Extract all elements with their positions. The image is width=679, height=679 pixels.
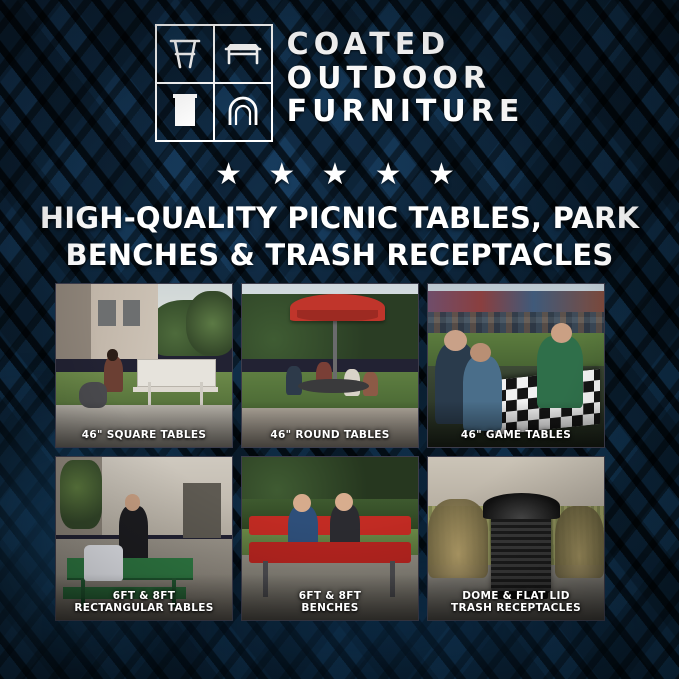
caption-line-1: 6FT & 8FT [60,590,228,602]
page-title: HIGH-QUALITY PICNIC TABLES, PARK BENCHES… [0,200,679,274]
product-caption: 6FT & 8FT RECTANGULAR TABLES [56,590,232,614]
product-grid: 46" SQUARE TABLES [55,283,625,621]
arch-bench-icon [214,83,273,142]
trash-receptacle-icon [155,83,214,142]
product-tile-trash-receptacles[interactable]: DOME & FLAT LID TRASH RECEPTACLES [427,456,605,621]
logo-icon-grid [155,24,273,142]
product-caption: 6FT & 8FT BENCHES [242,590,418,614]
caption-line-1: 6FT & 8FT [246,590,414,602]
product-caption: 46" ROUND TABLES [242,429,418,441]
picnic-table-icon [155,24,214,83]
caption-line-2: BENCHES [246,602,414,614]
caption-line-2: TRASH RECEPTACLES [432,602,600,614]
product-tile-round-tables[interactable]: 46" ROUND TABLES [241,283,419,448]
product-tile-game-tables[interactable]: 46" GAME TABLES [427,283,605,448]
headline-line-2: BENCHES & TRASH RECEPTACLES [28,237,651,274]
caption-line-1: DOME & FLAT LID [432,590,600,602]
product-tile-square-tables[interactable]: 46" SQUARE TABLES [55,283,233,448]
product-tile-benches[interactable]: 6FT & 8FT BENCHES [241,456,419,621]
park-bench-icon [214,24,273,83]
star-rating: ★ ★ ★ ★ ★ [0,160,679,190]
logo-word-coated: COATED [287,28,525,62]
caption-line-1: 46" ROUND TABLES [246,429,414,441]
product-poster: COATED OUTDOOR FURNITURE ★ ★ ★ ★ ★ HIGH-… [0,0,679,679]
product-caption: 46" GAME TABLES [428,429,604,441]
logo-word-furniture: FURNITURE [287,95,525,129]
headline-line-1: HIGH-QUALITY PICNIC TABLES, PARK [28,200,651,237]
caption-line-2: RECTANGULAR TABLES [60,602,228,614]
brand-logo: COATED OUTDOOR FURNITURE [0,24,679,142]
logo-wordmark: COATED OUTDOOR FURNITURE [287,24,525,129]
logo-word-outdoor: OUTDOOR [287,62,525,96]
product-caption: 46" SQUARE TABLES [56,429,232,441]
caption-line-1: 46" SQUARE TABLES [60,429,228,441]
product-tile-rectangular-tables[interactable]: 6FT & 8FT RECTANGULAR TABLES [55,456,233,621]
product-caption: DOME & FLAT LID TRASH RECEPTACLES [428,590,604,614]
caption-line-1: 46" GAME TABLES [432,429,600,441]
